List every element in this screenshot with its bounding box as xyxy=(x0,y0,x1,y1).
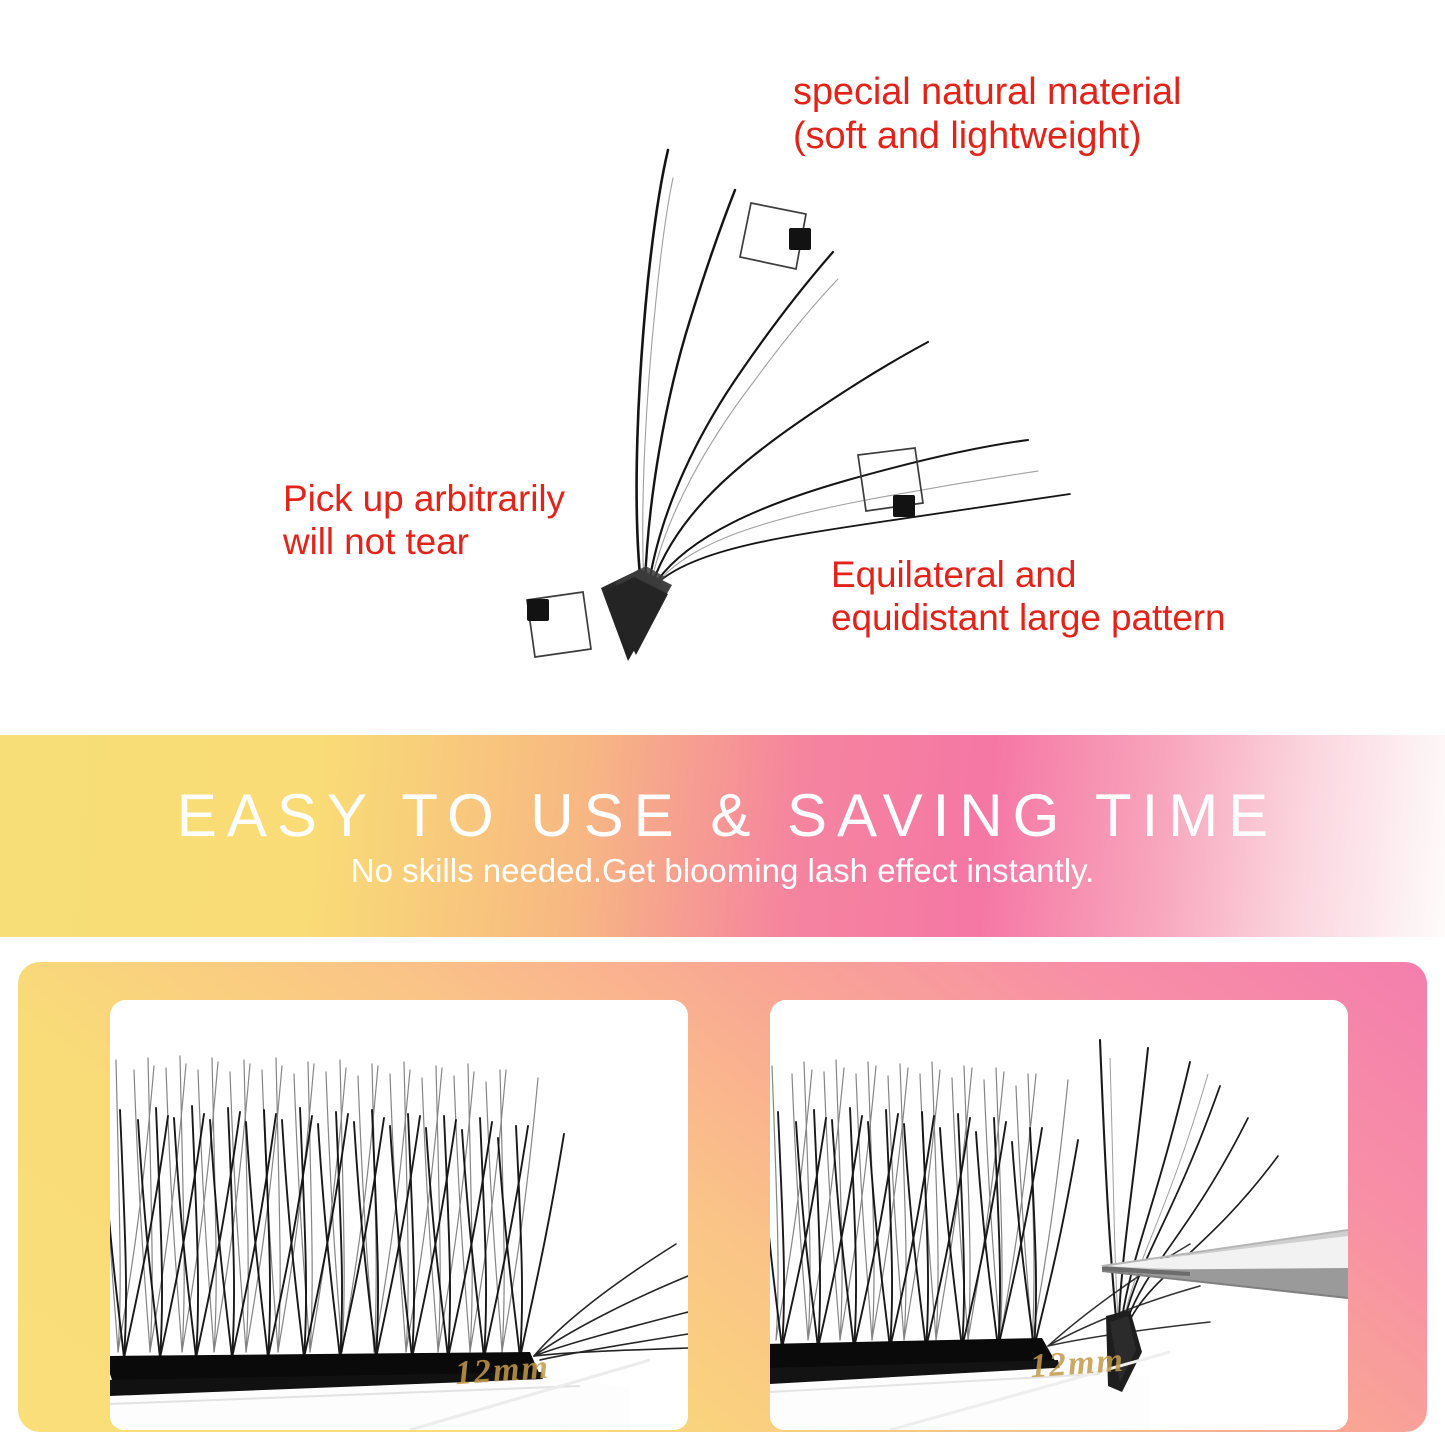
callout-label-special-natural-material: special natural material (soft and light… xyxy=(793,70,1181,158)
banner-headline: EASY TO USE & SAVING TIME xyxy=(177,786,1278,846)
lash-diagram-section: special natural material (soft and light… xyxy=(0,0,1445,735)
lash-fan-illustration xyxy=(0,0,1445,735)
photo-card-lash-fan-pickup: 12mm xyxy=(770,1000,1348,1430)
callout-label-equilateral-equidistant: Equilateral and equidistant large patter… xyxy=(831,554,1226,640)
callout-label-pick-up-arbitrarily: Pick up arbitrarily will not tear xyxy=(283,478,565,564)
banner-subtitle: No skills needed.Get blooming lash effec… xyxy=(351,854,1095,887)
product-photos-panel: 12mm xyxy=(18,962,1427,1432)
promo-banner: EASY TO USE & SAVING TIME No skills need… xyxy=(0,735,1445,937)
lash-tray-photo xyxy=(110,1000,688,1430)
callout-marker-middle xyxy=(858,448,923,517)
lash-fan-pickup-photo xyxy=(770,1000,1348,1430)
photo-card-lash-tray: 12mm xyxy=(110,1000,688,1430)
callout-marker-base xyxy=(527,592,591,657)
callout-marker-upper xyxy=(740,203,811,269)
